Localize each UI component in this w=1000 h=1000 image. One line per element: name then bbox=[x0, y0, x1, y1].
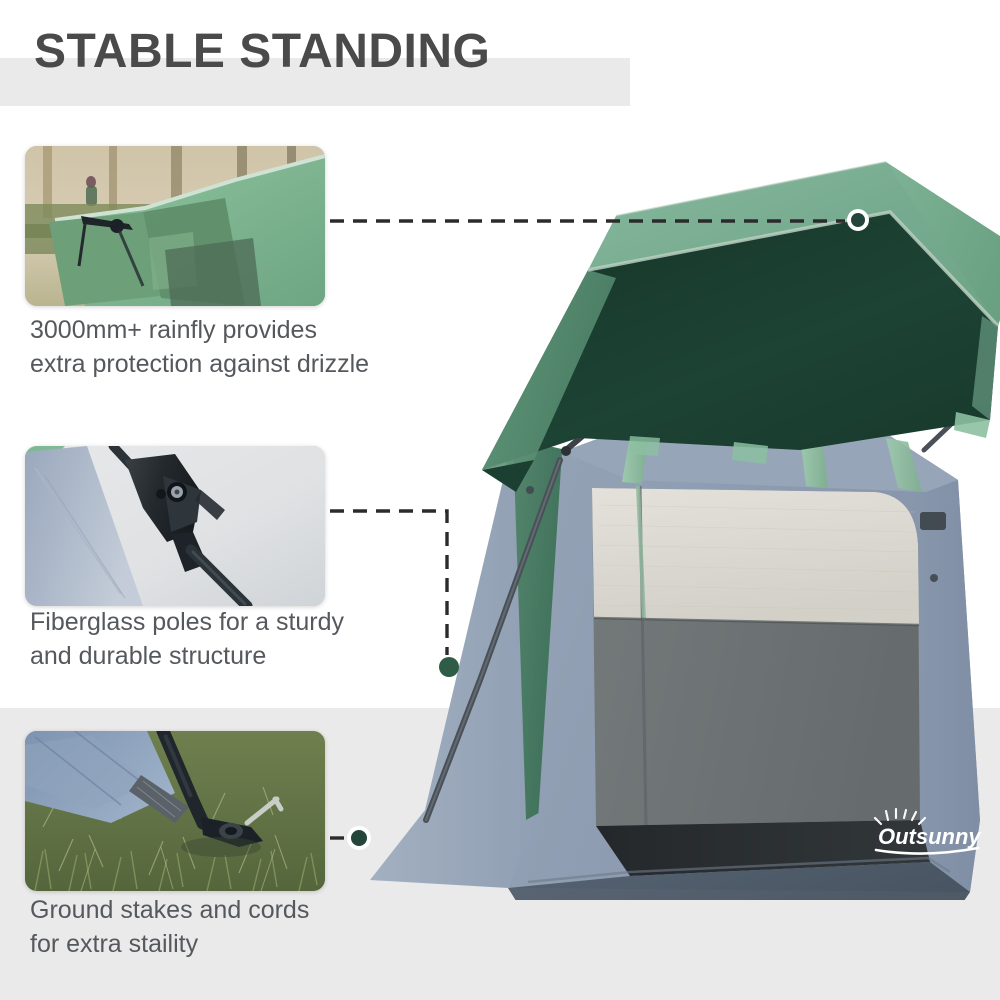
caption-poles: Fiberglass poles for a sturdy and durabl… bbox=[30, 605, 450, 673]
buckle bbox=[920, 512, 946, 530]
svg-text:Outsunny: Outsunny bbox=[878, 824, 982, 849]
caption-stakes: Ground stakes and cords for extra staili… bbox=[30, 893, 450, 961]
product-image-tent bbox=[330, 120, 1000, 900]
thumbnail-pole-hub[interactable] bbox=[25, 446, 325, 606]
thumbnail-ground-stake[interactable] bbox=[25, 731, 325, 891]
thumbnail-rainfly[interactable] bbox=[25, 146, 325, 306]
outsunny-logo: Outsunny bbox=[866, 808, 986, 860]
caption-rainfly: 3000mm+ rainfly provides extra protectio… bbox=[30, 313, 450, 381]
page-title: STABLE STANDING bbox=[34, 28, 490, 76]
infographic-canvas: STABLE STANDING bbox=[0, 0, 1000, 1000]
